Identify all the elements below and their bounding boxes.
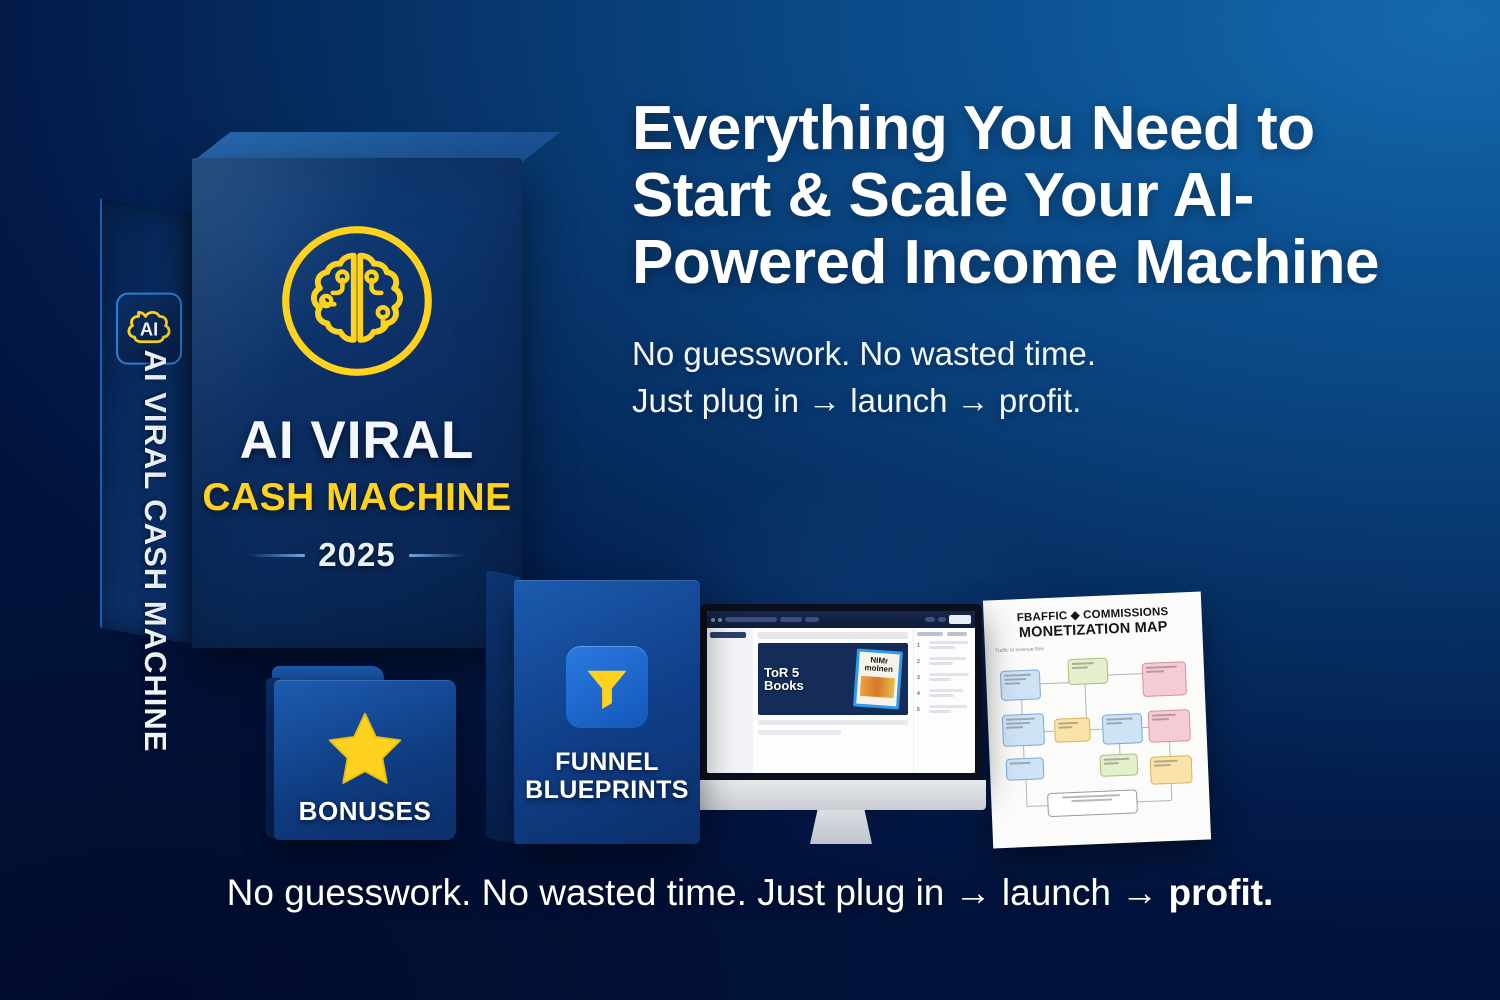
flow-edge — [1023, 746, 1025, 758]
flow-edge — [1040, 682, 1070, 684]
rec-bars — [929, 689, 972, 699]
browser-home-icon — [718, 618, 722, 622]
book-title: NIMr molnen — [864, 656, 894, 675]
flow-node — [1067, 658, 1108, 686]
poster-flowchart — [995, 651, 1200, 827]
thumbnail-line2: Books — [764, 678, 804, 693]
list-item[interactable]: 3 — [917, 673, 972, 683]
page-header-bar — [758, 632, 908, 639]
flow-edge — [1090, 729, 1102, 731]
poster-canvas: AI AI VIRAL CASH MACHINE — [0, 0, 1500, 1000]
subcopy-line2: Just plug in → launch → profit. — [632, 382, 1081, 419]
bonuses-label: BONUSES — [274, 796, 456, 827]
page-text-line — [758, 720, 908, 725]
monitor-bezel: ToR 5 Books NIMr molnen — [700, 604, 982, 780]
flow-edge — [1137, 800, 1171, 802]
bonuses-folder: BONUSES — [266, 666, 456, 844]
list-item[interactable]: 1 — [917, 641, 972, 651]
video-thumbnail[interactable]: ToR 5 Books NIMr molnen — [758, 643, 908, 715]
page-recommendations: 1 2 3 4 — [913, 628, 975, 773]
rec-bars — [929, 705, 972, 715]
funnel-blueprints-box: FUNNEL BLUEPRINTS — [486, 570, 702, 846]
flow-node — [1047, 789, 1138, 817]
box-year: 2025 — [318, 536, 395, 574]
flow-node — [1006, 757, 1045, 781]
box-brand-sub: CASH MACHINE — [192, 476, 522, 520]
list-item[interactable]: 4 — [917, 689, 972, 699]
browser-url-pill[interactable] — [725, 617, 777, 622]
rec-header-label — [917, 632, 943, 636]
funnel-label-line1: FUNNEL — [555, 748, 659, 776]
box-brand-main: AI VIRAL — [192, 410, 522, 471]
flow-node — [1054, 717, 1091, 742]
monitor-stand — [810, 810, 872, 844]
hero-subcopy: No guesswork. No wasted time. Just plug … — [632, 331, 1392, 425]
browser-cta-button[interactable] — [949, 615, 971, 624]
tagline-emphasis: profit. — [1169, 872, 1274, 913]
svg-text:AI: AI — [140, 319, 158, 340]
brain-circuit-icon — [276, 220, 438, 382]
recommendations-header — [917, 632, 972, 636]
browser-toolbar[interactable] — [707, 611, 975, 628]
flow-edge — [1027, 805, 1049, 807]
rank-number: 5 — [917, 707, 926, 713]
flow-node — [1102, 713, 1143, 745]
flow-edge — [1171, 784, 1173, 800]
book-title-line2: molnen — [864, 663, 893, 674]
funnel-blueprints-label: FUNNEL BLUEPRINTS — [514, 748, 700, 804]
folder-body: BONUSES — [274, 680, 456, 840]
box-year-row: 2025 — [192, 536, 522, 574]
flow-edge — [1025, 780, 1027, 806]
funnel-label-line2: BLUEPRINTS — [525, 776, 689, 804]
rec-header-action[interactable] — [947, 632, 967, 636]
monitor-chin — [696, 780, 986, 810]
monitor-screen: ToR 5 Books NIMr molnen — [707, 611, 975, 773]
flow-edge — [1044, 731, 1054, 732]
funnel-icon — [581, 661, 633, 713]
flow-node — [1000, 669, 1041, 701]
book-cover-art — [860, 676, 895, 698]
rec-bars — [929, 673, 972, 683]
tagline-prefix: No guesswork. No wasted time. Just plug … — [227, 872, 1169, 913]
sidebar-chip[interactable] — [710, 632, 746, 638]
browser-dot — [711, 618, 715, 622]
flow-edge — [1119, 744, 1120, 754]
flow-edge — [1108, 673, 1144, 676]
star-icon — [324, 710, 406, 788]
browser-menu-pill[interactable] — [805, 617, 819, 622]
flow-node — [1150, 755, 1193, 785]
flow-edge — [1021, 700, 1023, 714]
flow-node — [1148, 709, 1191, 743]
page-main-column: ToR 5 Books NIMr molnen — [753, 628, 913, 773]
browser-profile-pill[interactable] — [925, 617, 935, 622]
list-item[interactable]: 2 — [917, 657, 972, 667]
hero-copy: Everything You Need to Start & Scale You… — [632, 96, 1392, 425]
year-rule-right — [409, 554, 465, 557]
box-front-face: AI VIRAL CASH MACHINE 2025 — [192, 158, 522, 648]
flow-edge — [1169, 742, 1171, 756]
funnel-box-front: FUNNEL BLUEPRINTS — [514, 580, 700, 844]
rank-number: 2 — [917, 659, 926, 665]
page-title: Everything You Need to Start & Scale You… — [632, 96, 1392, 297]
rec-bars — [929, 657, 972, 667]
year-rule-left — [249, 554, 305, 557]
monetization-map-poster: FBAFFIC ◆ COMMISSIONS MONETIZATION MAP T… — [983, 592, 1211, 849]
box-spine: AI AI VIRAL CASH MACHINE — [100, 198, 196, 645]
flow-node — [1002, 713, 1045, 747]
brain-cloud-badge-icon: AI — [121, 301, 177, 357]
rank-number: 3 — [917, 675, 926, 681]
thumbnail-text: ToR 5 Books — [764, 666, 804, 692]
page-text-line — [758, 730, 841, 735]
flow-node — [1099, 753, 1138, 777]
box-spine-text: AI VIRAL CASH MACHINE — [137, 350, 173, 680]
monitor-mockup: ToR 5 Books NIMr molnen — [700, 604, 982, 849]
page-body: ToR 5 Books NIMr molnen — [707, 628, 975, 773]
rank-number: 4 — [917, 691, 926, 697]
funnel-icon-tile — [566, 646, 648, 728]
browser-nav-pill[interactable] — [780, 617, 802, 622]
page-sidebar — [707, 628, 753, 773]
footer-tagline: No guesswork. No wasted time. Just plug … — [0, 872, 1500, 914]
subcopy-line1: No guesswork. No wasted time. — [632, 335, 1096, 372]
rank-number: 1 — [917, 643, 926, 649]
flow-node — [1142, 661, 1187, 697]
browser-bell-pill[interactable] — [938, 617, 946, 622]
book-cover-graphic: NIMr molnen — [853, 648, 903, 709]
rec-bars — [929, 641, 972, 651]
list-item[interactable]: 5 — [917, 705, 972, 715]
